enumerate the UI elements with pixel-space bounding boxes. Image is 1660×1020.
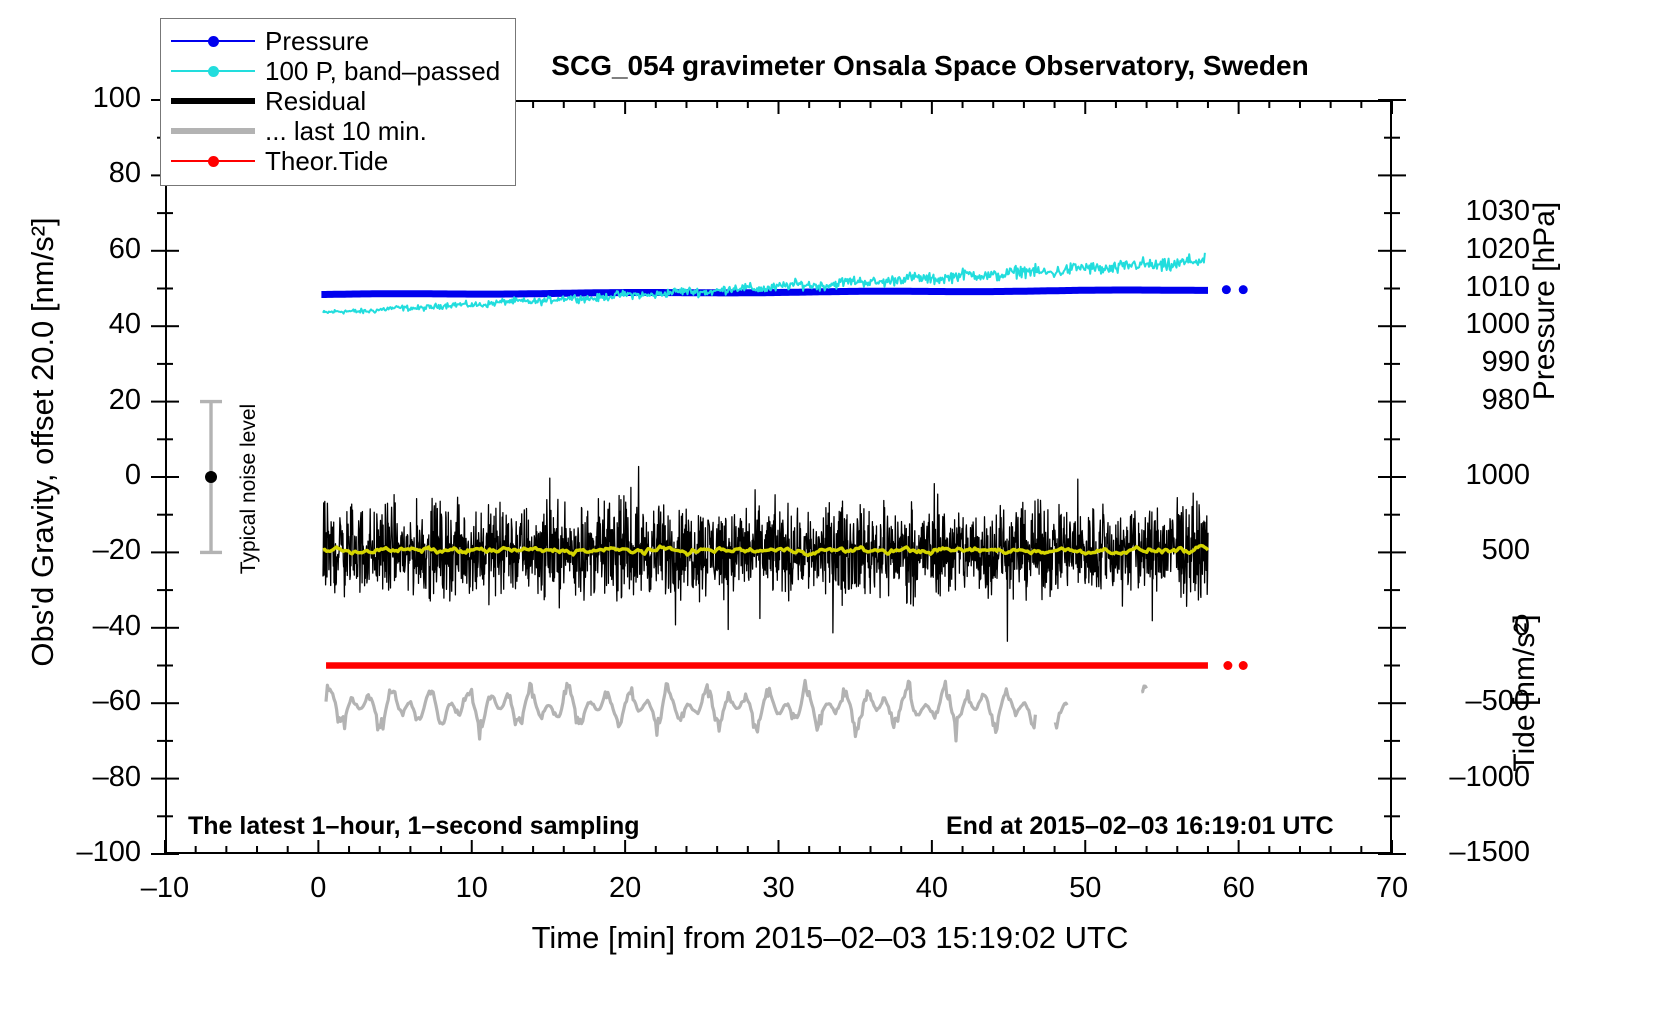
y-tick-label-tide: 0 (1410, 610, 1530, 643)
y-tick-label-left: –80 (21, 761, 141, 794)
y-tick-label-left: 40 (21, 308, 141, 341)
legend-item-label: ... last 10 min. (265, 118, 427, 144)
y-tick-label-tide: –500 (1410, 685, 1530, 718)
legend-item[interactable]: ... last 10 min. (171, 116, 505, 146)
y-tick-label-pressure: 990 (1410, 346, 1530, 379)
y-tick-label-pressure: 980 (1410, 384, 1530, 417)
legend-item[interactable]: Residual (171, 86, 505, 116)
x-axis-label: Time [min] from 2015–02–03 15:19:02 UTC (330, 920, 1330, 956)
plot-area (165, 100, 1392, 854)
legend-item-label: Theor.Tide (265, 148, 388, 174)
y-tick-label-pressure: 1030 (1410, 195, 1530, 228)
y-tick-label-left: 0 (21, 459, 141, 492)
legend-item[interactable]: Pressure (171, 26, 505, 56)
x-tick-label: 60 (1179, 872, 1299, 905)
gravimeter-plot-figure: SCG_054 gravimeter Onsala Space Observat… (0, 0, 1660, 1020)
legend-swatch-icon (171, 151, 255, 171)
page-title: SCG_054 gravimeter Onsala Space Observat… (430, 50, 1430, 82)
x-tick-label: 50 (1025, 872, 1145, 905)
y-tick-label-tide: –1500 (1410, 836, 1530, 869)
y-tick-label-left: 20 (21, 384, 141, 417)
legend-item[interactable]: Theor.Tide (171, 146, 505, 176)
y-tick-label-left: –40 (21, 610, 141, 643)
legend: Pressure100 P, band–passedResidual... la… (160, 18, 516, 186)
y-tick-label-left: –60 (21, 685, 141, 718)
y-axis-label-pressure: Pressure [hPa] (1528, 141, 1562, 461)
y-tick-label-left: –100 (21, 836, 141, 869)
y-tick-label-left: –20 (21, 534, 141, 567)
legend-item-label: Residual (265, 88, 366, 114)
legend-item-label: 100 P, band–passed (265, 58, 500, 84)
legend-swatch-icon (171, 31, 255, 51)
legend-swatch-icon (171, 121, 255, 141)
legend-swatch-icon (171, 91, 255, 111)
y-tick-label-left: 100 (21, 82, 141, 115)
x-tick-label: 70 (1332, 872, 1452, 905)
legend-marker-icon (208, 66, 219, 77)
y-tick-label-pressure: 1010 (1410, 271, 1530, 304)
y-tick-label-left: 60 (21, 233, 141, 266)
y-tick-label-tide: –1000 (1410, 761, 1530, 794)
y-tick-label-pressure: 1000 (1410, 308, 1530, 341)
x-tick-label: 10 (412, 872, 532, 905)
legend-item-label: Pressure (265, 28, 369, 54)
x-tick-label: 20 (565, 872, 685, 905)
x-tick-label: 40 (872, 872, 992, 905)
end-time-note: End at 2015–02–03 16:19:01 UTC (946, 812, 1334, 841)
x-tick-label: 30 (719, 872, 839, 905)
y-tick-label-tide: 1000 (1410, 459, 1530, 492)
x-tick-label: –10 (105, 872, 225, 905)
legend-swatch-icon (171, 61, 255, 81)
y-tick-label-tide: 500 (1410, 534, 1530, 567)
y-tick-label-pressure: 1020 (1410, 233, 1530, 266)
typical-noise-level-label: Typical noise level (237, 379, 261, 599)
legend-item[interactable]: 100 P, band–passed (171, 56, 505, 86)
legend-marker-icon (208, 156, 219, 167)
y-tick-label-left: 80 (21, 157, 141, 190)
x-tick-label: 0 (258, 872, 378, 905)
legend-marker-icon (208, 36, 219, 47)
sampling-note: The latest 1–hour, 1–second sampling (188, 812, 640, 841)
